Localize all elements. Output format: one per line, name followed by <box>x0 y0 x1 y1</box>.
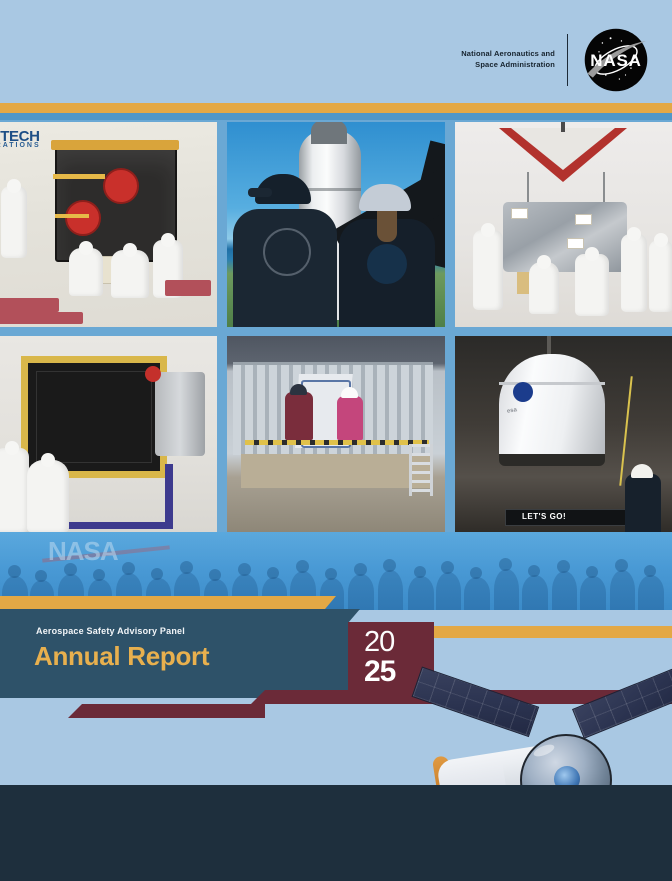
hard-hat-worker-2 <box>341 387 358 398</box>
floor-mat-3 <box>165 280 211 296</box>
lets-go-banner-text: LET'S GO! <box>522 512 566 521</box>
lift-cable-2 <box>603 172 605 206</box>
technician-9 <box>649 240 672 312</box>
technician-5 <box>473 230 503 310</box>
yellow-guide-rope <box>619 376 632 486</box>
hangar-worker-hard-hat <box>631 464 653 478</box>
photo-1-cleanroom-spacecraft: OTECH ERATIONS <box>0 122 217 327</box>
capsule-nasa-insignia-icon <box>513 382 533 402</box>
crane-hook <box>561 122 565 132</box>
page-header: National Aeronautics and Space Administr… <box>0 0 672 103</box>
striped-safety-rail <box>245 440 429 445</box>
yellow-tape-1 <box>53 174 105 179</box>
agency-identity: National Aeronautics and Space Administr… <box>461 26 650 94</box>
yellow-tape-2 <box>55 214 89 218</box>
header-blue-rule <box>0 113 672 120</box>
solar-array-top-right <box>572 664 672 739</box>
photo-grid: OTECH ERATIONS <box>0 120 672 532</box>
solar-array-top-left <box>412 667 540 738</box>
photo-6-capsule-hoist: esa LET'S GO! <box>455 336 672 532</box>
cap-right <box>359 184 411 211</box>
technician-6 <box>529 262 559 314</box>
maroon-band-lower <box>82 704 265 718</box>
ponytail <box>377 208 397 242</box>
header-gold-rule <box>0 103 672 113</box>
technician-2 <box>69 248 103 296</box>
title-gold-band <box>0 596 325 609</box>
fixture-inner-void <box>511 128 615 170</box>
lift-cable-1 <box>527 172 529 206</box>
year-century: 20 <box>364 628 394 657</box>
hangar-worker <box>625 474 661 532</box>
page-title: Annual Report <box>34 641 209 672</box>
year-gold-tab <box>434 626 672 638</box>
red-indicator <box>145 366 161 382</box>
shirt-emblem-left <box>263 228 311 276</box>
nasa-meatball-icon: NASA <box>582 26 650 94</box>
worker-pink-shirt <box>337 396 363 440</box>
floor-mat-1 <box>0 298 59 312</box>
payload-tag-2 <box>575 214 592 225</box>
capsule-spire <box>547 336 551 356</box>
agency-name: National Aeronautics and Space Administr… <box>461 49 567 71</box>
technician-10 <box>0 448 29 532</box>
technician-7 <box>575 254 609 316</box>
technician-11 <box>27 460 69 532</box>
technician-3 <box>111 250 149 298</box>
panel-name-eyebrow: Aerospace Safety Advisory Panel <box>36 626 185 636</box>
cap-worker-1 <box>290 384 307 395</box>
rocket-nose <box>311 122 347 144</box>
protective-drape <box>241 454 431 488</box>
footer-band <box>0 785 672 881</box>
red-cover-2 <box>65 200 101 236</box>
technician-1 <box>1 186 27 258</box>
header-divider <box>567 34 568 86</box>
ladder <box>409 444 433 496</box>
report-cover: National Aeronautics and Space Administr… <box>0 0 672 881</box>
svg-text:NASA: NASA <box>590 51 641 70</box>
technician-8 <box>621 234 647 312</box>
maroon-band-step <box>251 690 265 704</box>
payload-tag-1 <box>511 208 528 219</box>
photo-5-structure-work <box>227 336 445 532</box>
floor-mat-2 <box>0 312 83 324</box>
worker-maroon-shirt <box>285 392 313 440</box>
photo-4-panel-inspection <box>0 336 217 532</box>
year-decade: 25 <box>364 657 395 687</box>
shirt-emblem-right <box>367 244 407 284</box>
payload-tag-3 <box>567 238 584 249</box>
photo-2-rocket-viewers <box>227 122 445 327</box>
test-equipment <box>155 372 205 456</box>
red-cover-1 <box>103 168 139 204</box>
photo-3-payload-lift <box>455 122 672 327</box>
photo-1-facility-sign-sub: ERATIONS <box>0 142 41 149</box>
